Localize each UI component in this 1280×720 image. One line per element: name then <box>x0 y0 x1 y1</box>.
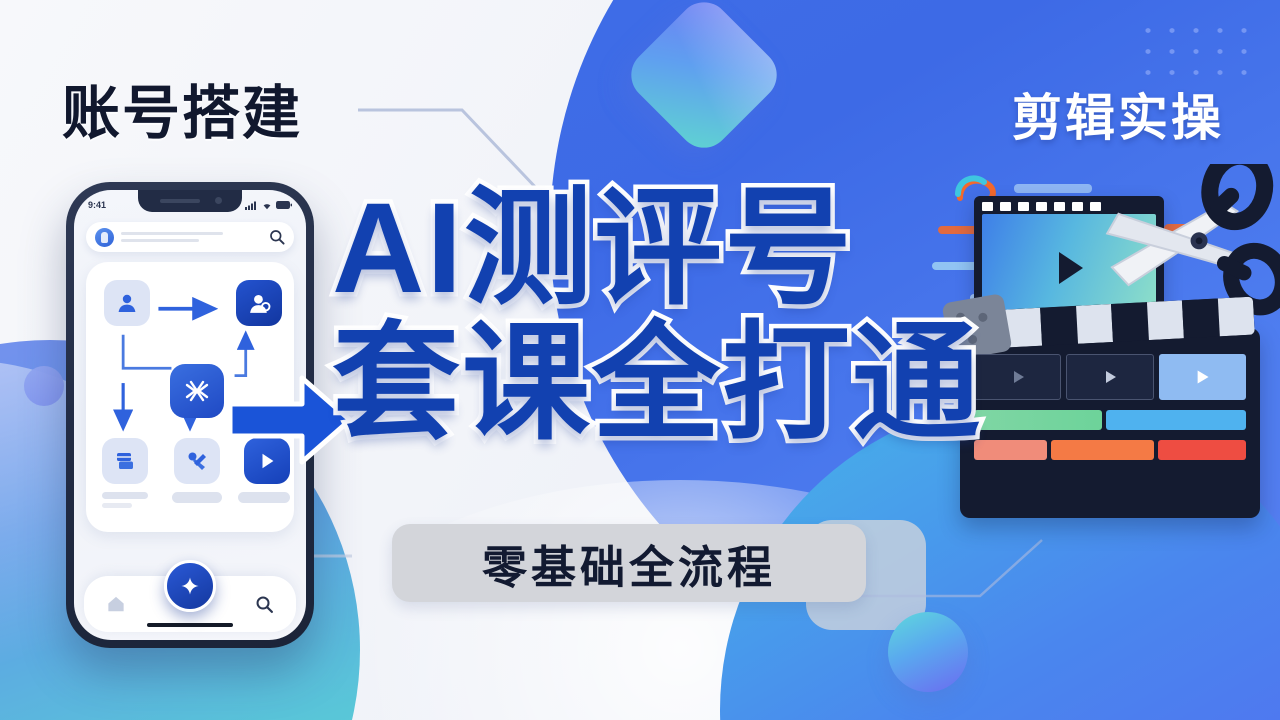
document-icon <box>113 449 137 473</box>
home-icon[interactable] <box>106 594 126 614</box>
sparkle-icon <box>180 576 200 596</box>
avatar-icon[interactable] <box>95 228 114 247</box>
ai-network-icon <box>182 376 212 406</box>
user-settings-icon <box>247 291 272 316</box>
play-icon <box>1099 366 1121 388</box>
badge-account-setup: 账号搭建 <box>62 66 302 150</box>
bottom-nav <box>84 576 296 632</box>
search-icon[interactable] <box>269 229 285 245</box>
user-icon <box>115 291 139 315</box>
tile-label-1b <box>102 503 132 508</box>
tile-label-1 <box>102 492 148 499</box>
play-icon <box>1190 365 1214 389</box>
subtitle-badge: 零基础全流程 <box>392 524 866 602</box>
timeline-clip-3[interactable] <box>1159 354 1246 400</box>
signal-icon <box>245 201 258 210</box>
search-input[interactable] <box>121 232 262 242</box>
tile-label-3 <box>238 492 290 503</box>
title-line-1: AI测评号 <box>332 186 1092 311</box>
clip-blue[interactable] <box>1106 410 1246 430</box>
decor-small-circle <box>24 366 64 406</box>
edit-cut-icon <box>185 449 209 473</box>
wifi-icon <box>261 201 273 210</box>
home-indicator <box>147 623 233 627</box>
search-bar[interactable] <box>86 222 294 252</box>
title-line-2: 套课全打通 <box>332 321 1092 446</box>
nav-create-button[interactable] <box>164 560 216 612</box>
ai-process-tile[interactable] <box>170 364 224 418</box>
search-icon[interactable] <box>255 595 274 614</box>
script-tile[interactable] <box>102 438 148 484</box>
poster-canvas: 账号搭建 剪辑实操 9:41 <box>0 0 1280 720</box>
badge-editing-practice: 剪辑实操 <box>1012 78 1224 150</box>
dot-grid-icon <box>1136 20 1256 82</box>
tile-label-2 <box>172 492 222 503</box>
user-target-tile[interactable] <box>236 280 282 326</box>
gradient-sphere-icon <box>888 612 968 692</box>
clip-red[interactable] <box>1158 440 1246 460</box>
main-title: AI测评号 套课全打通 <box>332 186 1092 447</box>
battery-icon <box>276 201 292 209</box>
status-bar: 9:41 <box>74 196 306 214</box>
user-source-tile[interactable] <box>104 280 150 326</box>
status-time: 9:41 <box>88 200 106 210</box>
edit-tile[interactable] <box>174 438 220 484</box>
subtitle-text: 零基础全流程 <box>482 531 776 596</box>
